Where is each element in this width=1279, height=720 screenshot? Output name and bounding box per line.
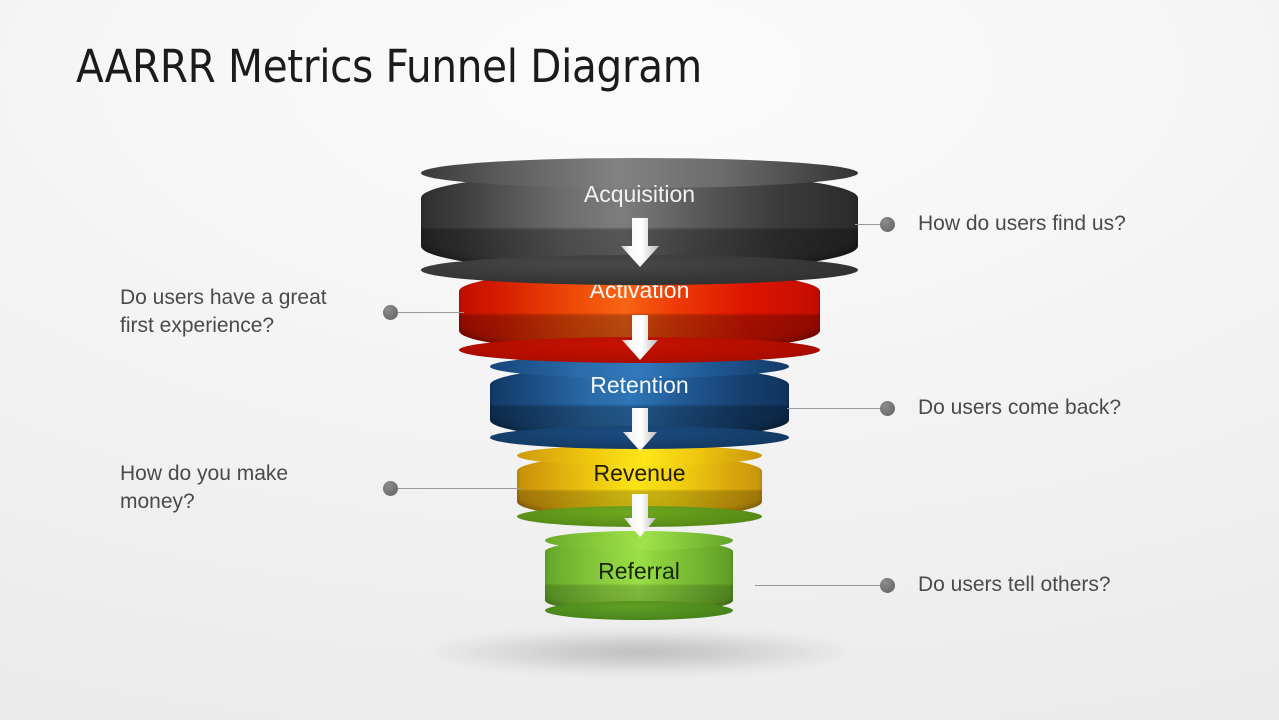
callout-revenue-line1: How do you make <box>120 460 370 488</box>
callout-dot-retention <box>880 401 895 416</box>
stage-top-ellipse-acquisition <box>421 158 858 188</box>
flow-arrow-down-icon-4 <box>621 494 659 538</box>
callout-connector-referral <box>755 585 889 586</box>
callout-acquisition: How do users find us? <box>918 210 1126 238</box>
callout-connector-retention <box>787 408 889 409</box>
callout-retention: Do users come back? <box>918 394 1121 422</box>
callout-revenue-line2: money? <box>120 488 370 516</box>
callout-activation-line1: Do users have a great <box>120 284 370 312</box>
callout-connector-activation <box>396 312 464 313</box>
callout-dot-revenue <box>383 481 398 496</box>
funnel-ground-shadow <box>430 630 850 674</box>
stage-bottom-cap-referral <box>545 601 733 620</box>
slide-canvas: AARRR Metrics Funnel Diagram Acquisition… <box>0 0 1279 720</box>
funnel-stage-referral[interactable]: Referral <box>545 540 733 612</box>
aarrr-funnel-diagram: Acquisition Activation Retention Revenue <box>0 0 1279 720</box>
callout-activation-line2: first experience? <box>120 312 370 340</box>
flow-arrow-down-icon-3 <box>620 408 660 452</box>
callout-dot-referral <box>880 578 895 593</box>
callout-retention-text: Do users come back? <box>918 394 1121 422</box>
flow-arrow-down-icon-2 <box>619 315 661 361</box>
callout-activation: Do users have a great first experience? <box>120 284 370 340</box>
callout-connector-revenue <box>396 488 521 489</box>
flow-arrow-down-icon-1 <box>618 218 662 268</box>
callout-referral-text: Do users tell others? <box>918 571 1111 599</box>
callout-referral: Do users tell others? <box>918 571 1111 599</box>
callout-revenue: How do you make money? <box>120 460 370 516</box>
callout-dot-activation <box>383 305 398 320</box>
callout-dot-acquisition <box>880 217 895 232</box>
callout-acquisition-text: How do users find us? <box>918 210 1126 238</box>
